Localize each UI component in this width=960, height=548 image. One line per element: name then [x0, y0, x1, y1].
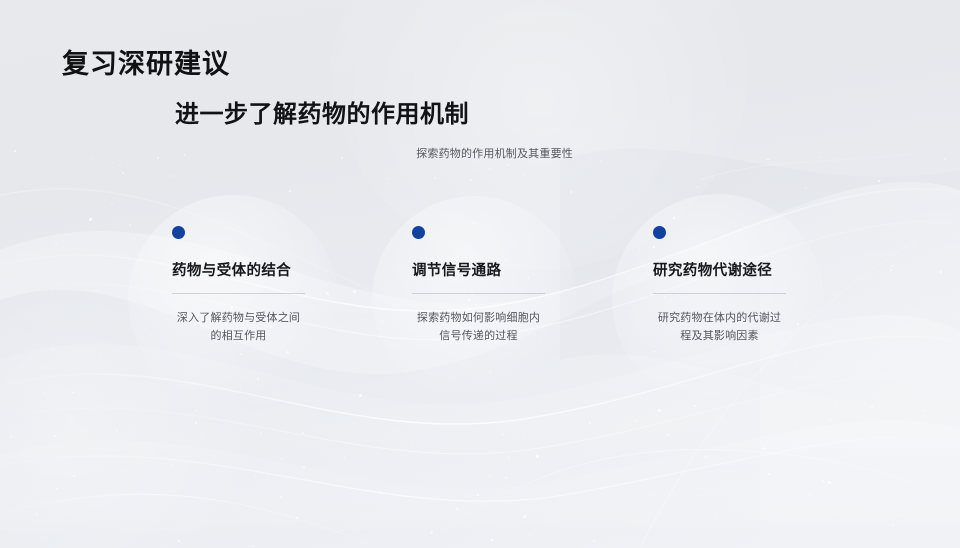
column-3-divider: [653, 293, 786, 294]
headline: 进一步了解药物的作用机制: [175, 100, 469, 130]
column-2-divider: [412, 293, 545, 294]
bullet-dot-icon: [653, 226, 666, 239]
presentation-slide: 复习深研建议 进一步了解药物的作用机制 探索药物的作用机制及其重要性 药物与受体…: [0, 0, 960, 548]
column-3: 研究药物代谢途径 研究药物在体内的代谢过程及其影响因素: [647, 226, 887, 345]
column-1: 药物与受体的结合 深入了解药物与受体之间的相互作用: [166, 226, 406, 345]
column-1-body: 深入了解药物与受体之间的相互作用: [172, 309, 305, 345]
slide-content: 复习深研建议 进一步了解药物的作用机制 探索药物的作用机制及其重要性 药物与受体…: [0, 0, 960, 548]
column-3-title: 研究药物代谢途径: [653, 262, 887, 281]
column-2-title: 调节信号通路: [412, 262, 646, 281]
column-3-body: 研究药物在体内的代谢过程及其影响因素: [653, 309, 786, 345]
columns-group: 药物与受体的结合 深入了解药物与受体之间的相互作用 调节信号通路 探索药物如何影…: [0, 226, 960, 376]
column-1-divider: [172, 293, 305, 294]
bullet-dot-icon: [412, 226, 425, 239]
bullet-dot-icon: [172, 226, 185, 239]
column-1-title: 药物与受体的结合: [172, 262, 406, 281]
column-2: 调节信号通路 探索药物如何影响细胞内信号传递的过程: [406, 226, 646, 345]
column-2-body: 探索药物如何影响细胞内信号传递的过程: [412, 309, 545, 345]
page-title: 复习深研建议: [62, 48, 230, 80]
sub-headline: 探索药物的作用机制及其重要性: [173, 145, 573, 161]
